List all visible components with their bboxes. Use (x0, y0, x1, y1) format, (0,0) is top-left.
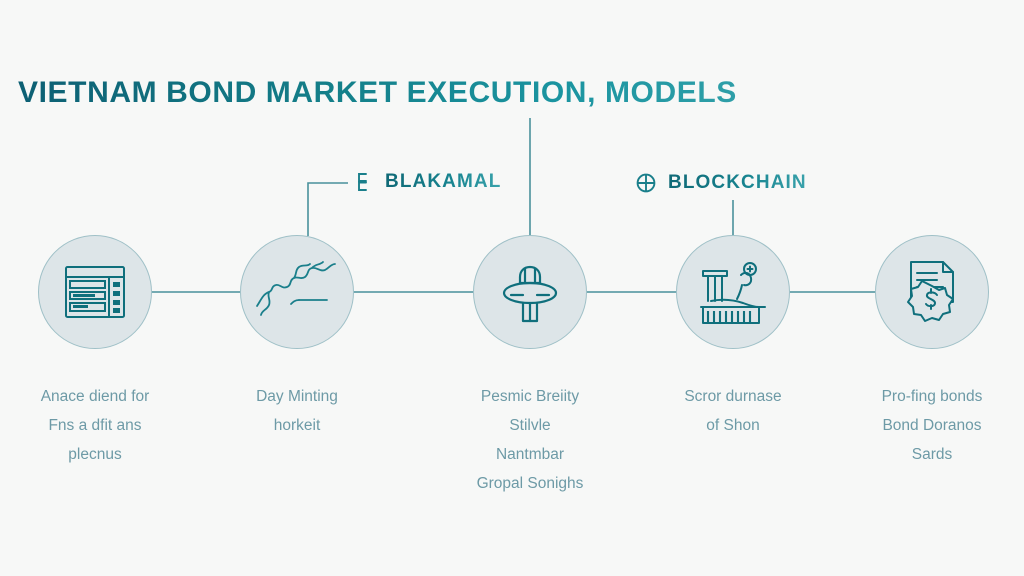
node-dashboard-panel[interactable] (38, 235, 152, 349)
node-caption: Scror durnase of Shon (628, 382, 838, 440)
callout-blakamal: BLAKAMAL (352, 170, 501, 194)
node-bank-building[interactable] (676, 235, 790, 349)
document-dollar-seal-icon (899, 258, 965, 326)
dashboard-panel-icon (64, 265, 126, 319)
node-document-dollar[interactable] (875, 235, 989, 349)
callout-stem-blakamal (308, 183, 348, 236)
node-tower-beacon[interactable] (473, 235, 587, 349)
callout-label: BLAKAMAL (385, 171, 501, 193)
globe-map-icon (249, 244, 345, 340)
node-caption: Anace diend for Fns a dfit ans plecnus (0, 382, 200, 469)
infographic-canvas: VIETNAM BOND MARKET EXECUTION, MODELS BL… (0, 0, 1024, 576)
stacked-layers-icon (352, 170, 376, 194)
globe-crosshair-icon (633, 170, 659, 196)
node-caption: Pro-fing bonds Bond Doranos Sards (827, 382, 1024, 469)
bank-building-icon (697, 257, 769, 327)
node-globe-map[interactable] (240, 235, 354, 349)
callout-blockchain: BLOCKCHAIN (633, 170, 807, 196)
tower-beacon-icon (499, 259, 561, 325)
page-title: VIETNAM BOND MARKET EXECUTION, MODELS (18, 76, 737, 110)
node-caption: Day Minting horkeit (192, 382, 402, 440)
node-caption: Pesmic Breiity Stilvle Nantmbar Gropal S… (425, 382, 635, 498)
callout-label: BLOCKCHAIN (668, 172, 807, 194)
